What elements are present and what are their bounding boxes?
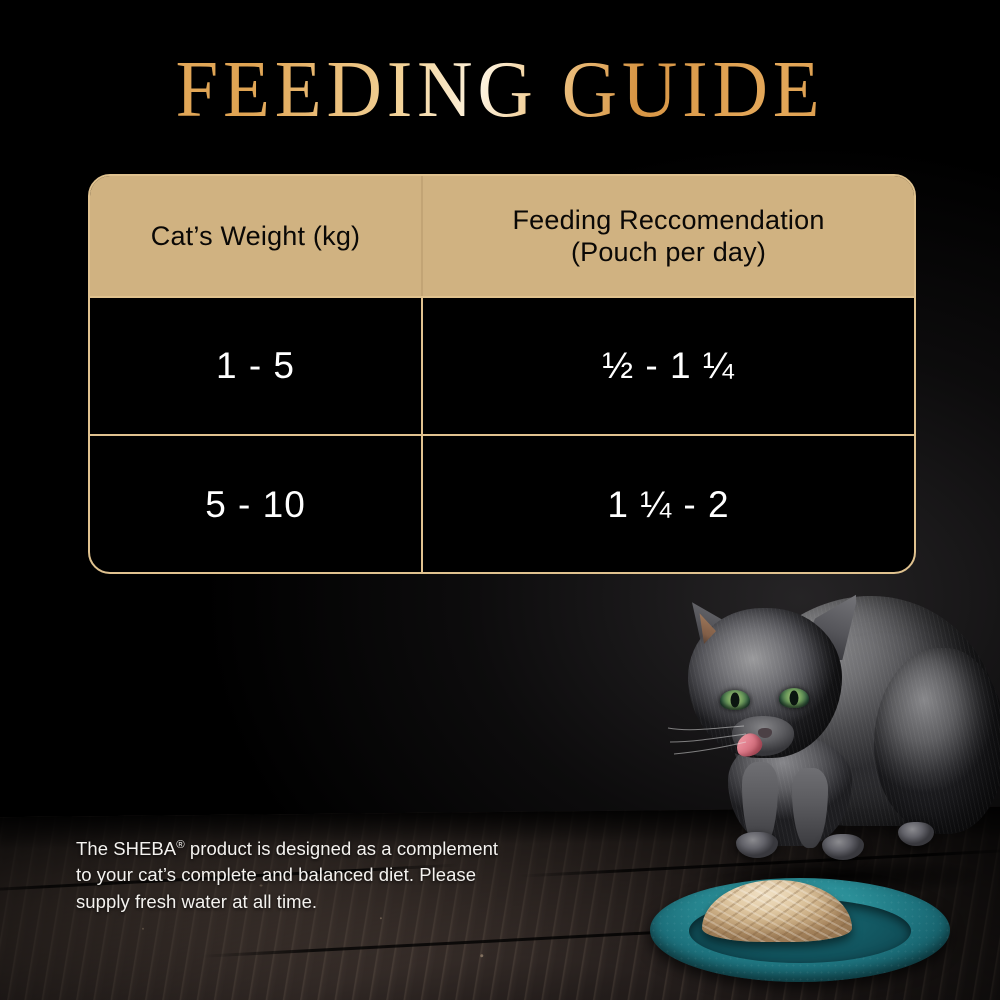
recommendation-value: 1 ¼ - 2 xyxy=(607,484,729,526)
recommendation-value: ½ - 1 ¼ xyxy=(602,345,734,387)
cat-eye-left xyxy=(720,690,750,710)
footer-line-1-rest: product is designed as a complement xyxy=(185,838,498,859)
cat-paw xyxy=(736,832,778,858)
footer-line-2: to your cat’s complete and balanced diet… xyxy=(76,862,546,888)
cat-photo xyxy=(636,586,1000,886)
wood-speck xyxy=(480,954,483,957)
table-row: 5 - 10 1 ¼ - 2 xyxy=(90,436,914,574)
feeding-guide-page: FEEDING GUIDE Cat’s Weight (kg) Feeding … xyxy=(0,0,1000,1000)
weight-value: 1 - 5 xyxy=(216,345,295,387)
footer-line-1: The SHEBA® product is designed as a comp… xyxy=(76,836,546,862)
table-header-recommendation-line1: Feeding Reccomendation xyxy=(512,205,824,235)
wood-speck xyxy=(142,928,144,930)
table-cell-weight: 5 - 10 xyxy=(90,436,423,574)
registered-trademark-icon: ® xyxy=(176,839,185,851)
wood-speck xyxy=(380,917,382,919)
table-header-cell-recommendation: Feeding Reccomendation (Pouch per day) xyxy=(423,176,914,296)
cat-paw xyxy=(898,822,934,846)
table-cell-recommendation: ½ - 1 ¼ xyxy=(423,298,914,434)
table-header-row: Cat’s Weight (kg) Feeding Reccomendation… xyxy=(90,176,914,298)
table-row: 1 - 5 ½ - 1 ¼ xyxy=(90,298,914,436)
cat-whiskers xyxy=(666,716,756,756)
table-header-weight-label: Cat’s Weight (kg) xyxy=(151,220,360,252)
footer-disclaimer: The SHEBA® product is designed as a comp… xyxy=(76,836,546,915)
footer-brand-text: The SHEBA xyxy=(76,838,176,859)
food-plate xyxy=(650,878,950,982)
table-cell-recommendation: 1 ¼ - 2 xyxy=(423,436,914,574)
cat-paw xyxy=(822,834,864,860)
weight-value: 5 - 10 xyxy=(205,484,306,526)
footer-line-3: supply fresh water at all time. xyxy=(76,889,546,915)
cat-haunch xyxy=(874,648,1000,834)
feeding-guide-table: Cat’s Weight (kg) Feeding Reccomendation… xyxy=(88,174,916,574)
table-cell-weight: 1 - 5 xyxy=(90,298,423,434)
page-title: FEEDING GUIDE xyxy=(20,50,980,130)
table-header-recommendation-label: Feeding Reccomendation (Pouch per day) xyxy=(512,204,824,269)
table-header-recommendation-line2: (Pouch per day) xyxy=(571,237,766,267)
table-header-cell-weight: Cat’s Weight (kg) xyxy=(90,176,423,296)
cat-eye-right xyxy=(779,688,809,708)
